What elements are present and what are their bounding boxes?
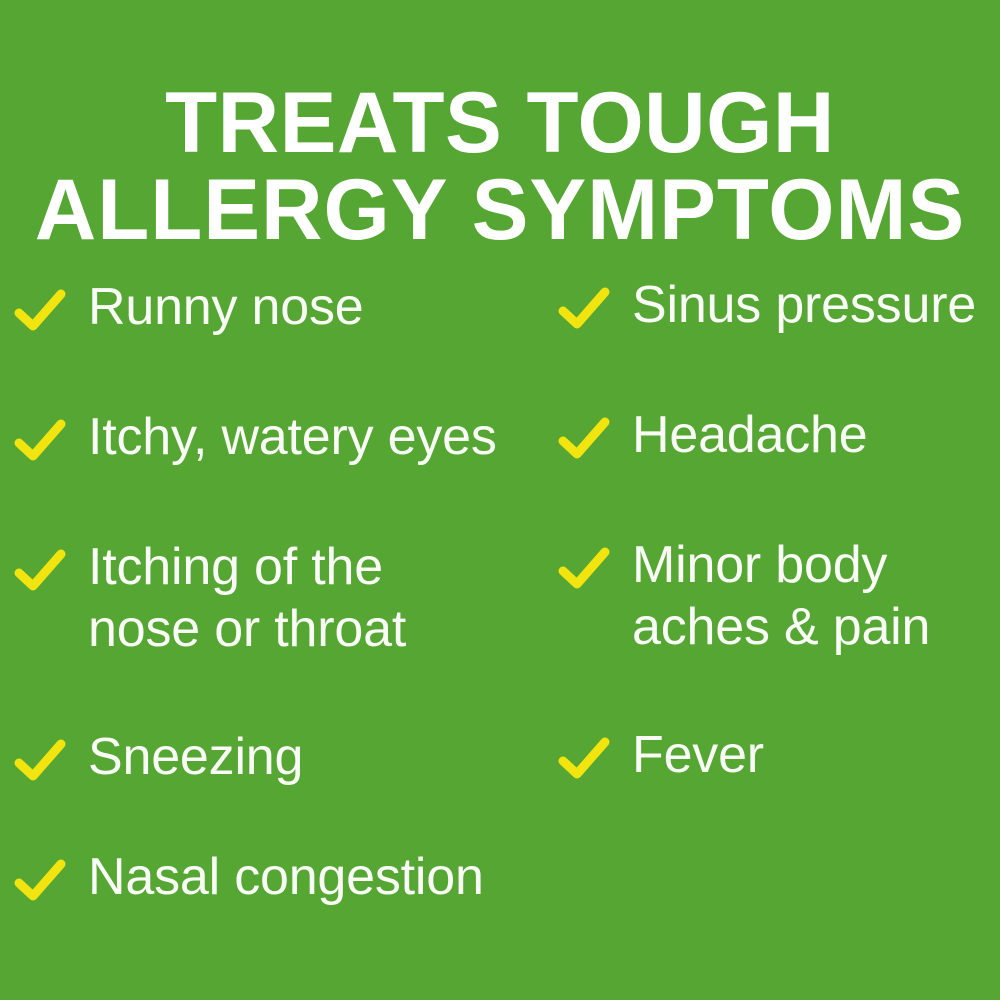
- list-item: Minor body aches & pain: [558, 534, 930, 658]
- list-item: Runny nose: [14, 276, 364, 338]
- symptoms-list: Runny nose Itchy, watery eyes Itching of…: [0, 268, 1000, 968]
- list-item: Sinus pressure: [558, 274, 976, 336]
- page-title-line-1: TREATS TOUGH: [5, 80, 995, 167]
- list-item: Sneezing: [14, 726, 303, 788]
- check-icon: [14, 286, 66, 338]
- list-item-label: Minor body aches & pain: [632, 534, 930, 658]
- check-icon: [558, 544, 610, 596]
- list-item-label: Runny nose: [88, 276, 364, 338]
- list-item: Nasal congestion: [14, 846, 484, 908]
- check-icon: [558, 734, 610, 786]
- allergy-symptoms-infographic: TREATS TOUGH ALLERGY SYMPTOMS Runny nose: [0, 0, 1000, 1000]
- page-title: TREATS TOUGH ALLERGY SYMPTOMS: [5, 80, 995, 254]
- list-item-label: Sinus pressure: [632, 274, 976, 336]
- list-item: Itchy, watery eyes: [14, 406, 497, 468]
- check-icon: [558, 414, 610, 466]
- list-item-label: Itching of the nose or throat: [88, 536, 406, 660]
- page-title-line-2: ALLERGY SYMPTOMS: [5, 167, 995, 254]
- list-item-label: Nasal congestion: [88, 846, 484, 908]
- list-item-label: Itchy, watery eyes: [88, 406, 497, 468]
- list-item: Itching of the nose or throat: [14, 536, 406, 660]
- check-icon: [14, 736, 66, 788]
- check-icon: [14, 416, 66, 468]
- list-item-label: Headache: [632, 404, 867, 466]
- list-item: Headache: [558, 404, 867, 466]
- check-icon: [14, 546, 66, 598]
- check-icon: [14, 856, 66, 908]
- list-item: Fever: [558, 724, 764, 786]
- list-item-label: Fever: [632, 724, 764, 786]
- list-item-label: Sneezing: [88, 726, 303, 788]
- check-icon: [558, 284, 610, 336]
